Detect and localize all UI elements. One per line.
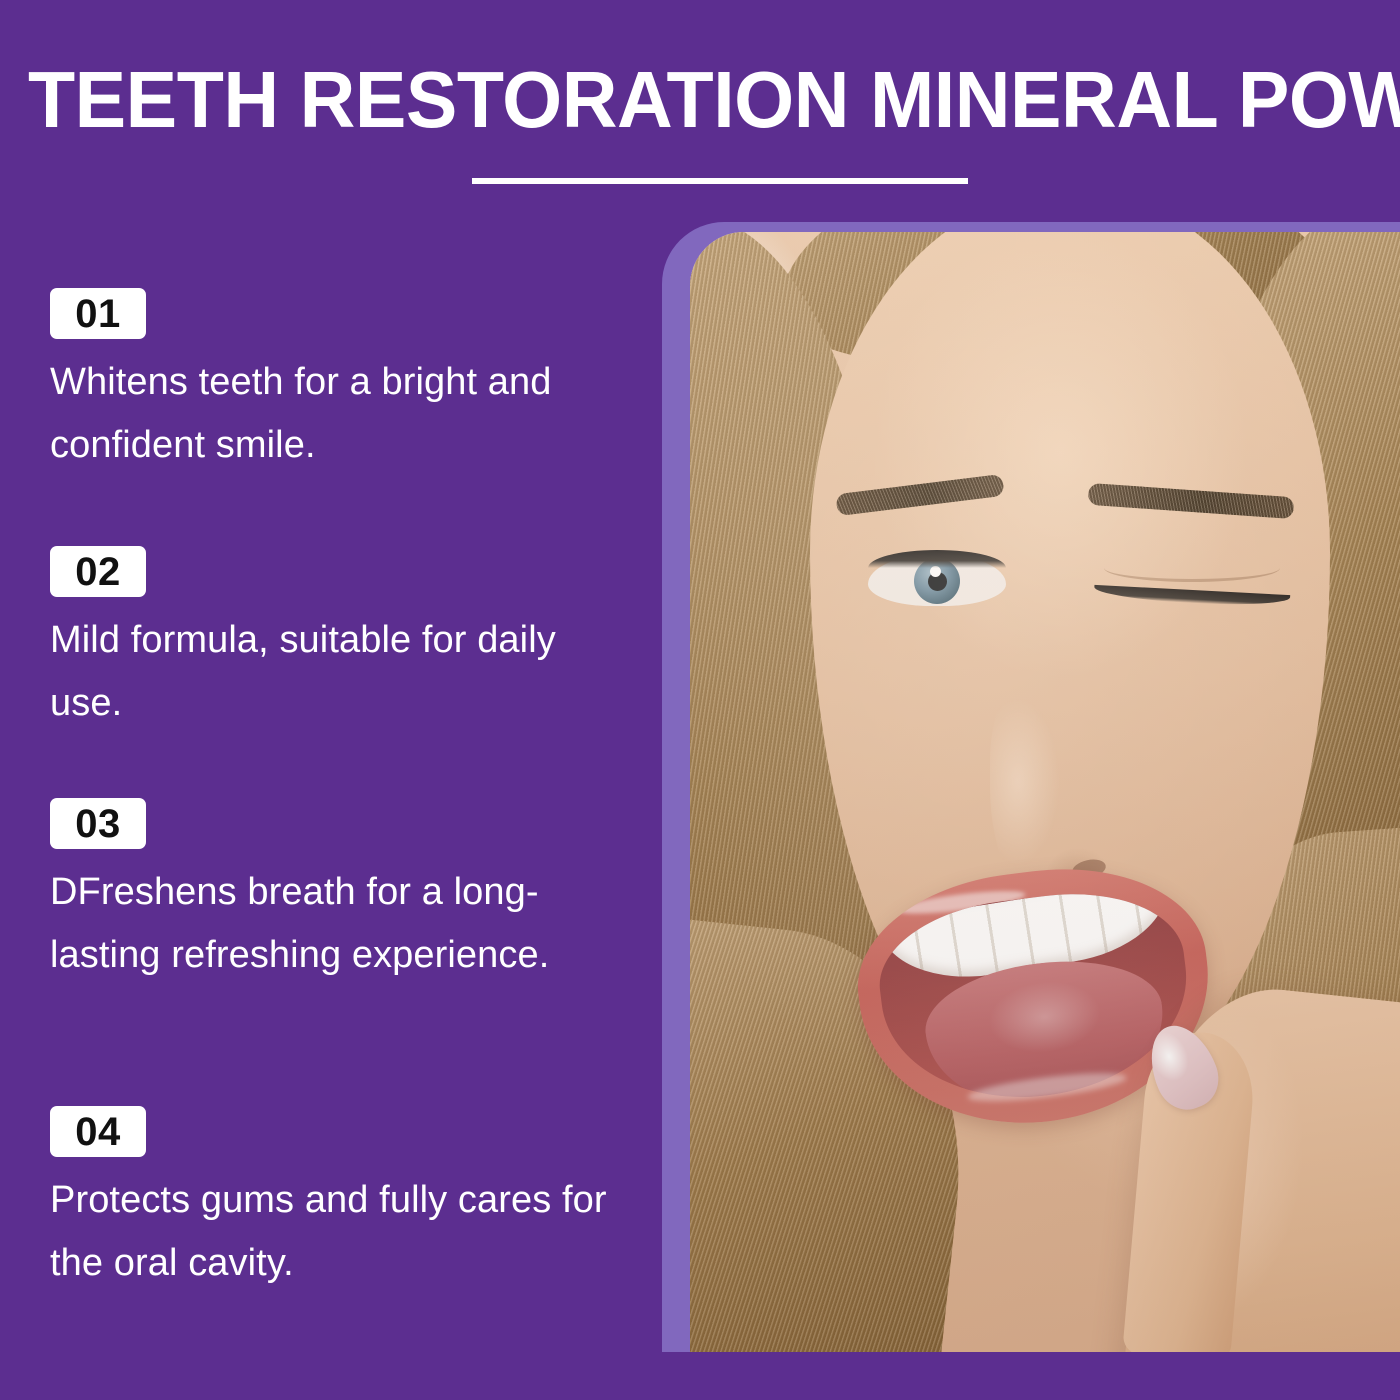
closed-eyelid — [1094, 585, 1290, 608]
feature-item-03: 03 DFreshens breath for a long-lasting r… — [50, 798, 650, 987]
feature-list: 01 Whitens teeth for a bright and confid… — [0, 288, 660, 1298]
photo-panel-frame — [662, 222, 1400, 1352]
feature-description: Protects gums and fully cares for the or… — [50, 1169, 635, 1295]
feature-number-badge: 01 — [50, 288, 146, 339]
feature-item-04: 04 Protects gums and fully cares for the… — [50, 1106, 650, 1295]
title-divider — [472, 178, 968, 184]
page-title: TEETH RESTORATION MINERAL POWDER — [28, 58, 1329, 142]
feature-item-02: 02 Mild formula, suitable for daily use. — [50, 546, 650, 735]
feature-number-badge: 02 — [50, 546, 146, 597]
feature-description: Mild formula, suitable for daily use. — [50, 609, 635, 735]
eyelashes — [868, 550, 1006, 568]
feature-item-01: 01 Whitens teeth for a bright and confid… — [50, 288, 650, 477]
feature-description: Whitens teeth for a bright and confident… — [50, 351, 635, 477]
eye-open — [868, 550, 1006, 612]
eye-winking — [1094, 584, 1290, 610]
product-feature-poster: TEETH RESTORATION MINERAL POWDER 01 Whit… — [0, 0, 1400, 1400]
feature-number-badge: 04 — [50, 1106, 146, 1157]
feature-number-badge: 03 — [50, 798, 146, 849]
feature-description: DFreshens breath for a long-lasting refr… — [50, 861, 635, 987]
model-photo — [690, 232, 1400, 1352]
poster-header: TEETH RESTORATION MINERAL POWDER — [0, 0, 1400, 212]
